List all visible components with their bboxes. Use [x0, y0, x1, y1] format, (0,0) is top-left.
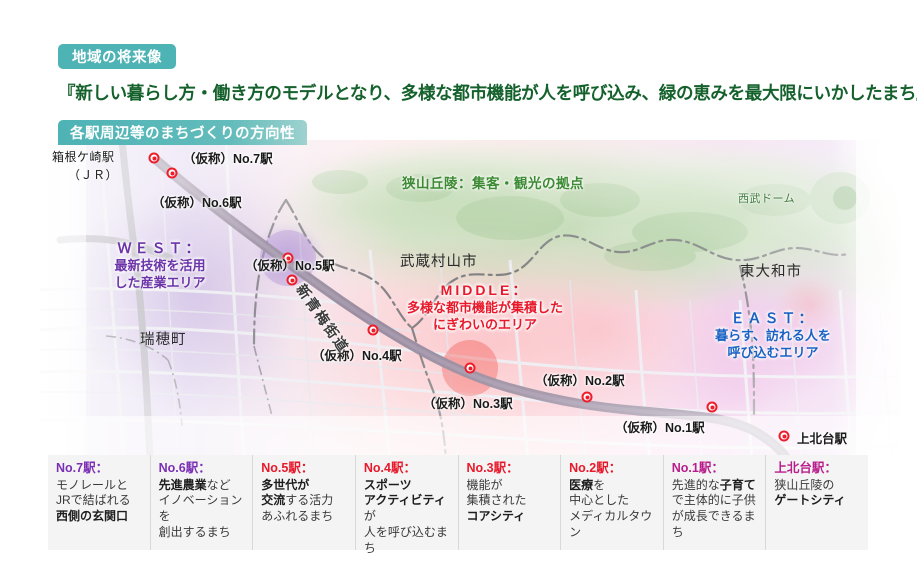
- caption-no5-l2b: 交流: [261, 493, 285, 507]
- caption-no1-l3: が成長できるまち: [672, 509, 756, 539]
- station-marker-no7[interactable]: [167, 168, 178, 179]
- caption-no4-head: No.4駅：: [364, 460, 454, 477]
- station-marker-no1[interactable]: [707, 402, 718, 413]
- caption-no7: No.7駅： モノレールと JRで結ばれる 西側の玄関口: [48, 455, 151, 550]
- caption-no5-l3: あふれるまち: [261, 509, 333, 523]
- caption-no2-head: No.2駅：: [569, 460, 659, 477]
- caption-no6-l3: 創出するまち: [159, 525, 231, 539]
- caption-no2-body: 医療を 中心とした メディカルタウン: [569, 478, 659, 541]
- caption-kamikitadai-l1: 狭山丘陵の: [774, 478, 834, 492]
- caption-no3-l3b: コアシティ: [467, 509, 526, 523]
- station-marker-kamikitadai[interactable]: [779, 431, 790, 442]
- station-marker-hakonegasaki[interactable]: [149, 153, 160, 164]
- direction-badge: 各駅周辺等のまちづくりの方向性: [58, 120, 307, 145]
- caption-no3-l2: 集積された: [467, 493, 527, 507]
- caption-kamikitadai-l2b: ゲートシティ: [774, 493, 845, 507]
- caption-no2-l2: 中心とした: [569, 493, 629, 507]
- caption-no6-l1b: 先進農業: [159, 478, 207, 492]
- caption-no1-body: 先進的な子育て で主体的に子供 が成長できるまち: [672, 478, 762, 541]
- caption-no1-l1b: 子育て: [720, 478, 756, 492]
- caption-kamikitadai: 上北台駅： 狭山丘陵の ゲートシティ: [766, 455, 868, 550]
- caption-no4-body: スポーツ アクティビティが 人を呼び込むまち: [364, 478, 454, 557]
- caption-no2-l3: メディカルタウン: [569, 509, 652, 539]
- caption-no6: No.6駅： 先進農業など イノベーションを 創出するまち: [151, 455, 254, 550]
- caption-no1-l2: で主体的に子供: [672, 493, 756, 507]
- station-marker-no5[interactable]: [287, 275, 298, 286]
- caption-no5-l2c: する活力: [285, 493, 333, 507]
- caption-no4-l3: 人を呼び込むまち: [364, 525, 448, 555]
- caption-no6-l2: イノベーションを: [159, 493, 243, 523]
- caption-no5-head: No.5駅：: [261, 460, 351, 477]
- caption-no7-l2: JRで結ばれる: [56, 493, 131, 507]
- caption-no6-l1c: など: [207, 478, 231, 492]
- region-map: 箱根ケ崎駅 （ＪＲ） （仮称）No.7駅 （仮称）No.6駅 （仮称）No.5駅…: [40, 140, 900, 460]
- caption-no1-head: No.1駅：: [672, 460, 762, 477]
- caption-no1-l1: 先進的な: [672, 478, 720, 492]
- caption-no3-body: 機能が 集積された コアシティ: [467, 478, 557, 525]
- caption-no5-l1b: 多世代が: [261, 478, 309, 492]
- map-canvas: [40, 140, 900, 460]
- slide-root: 地域の将来像 『新しい暮らし方・働き方のモデルとなり、多様な都市機能が人を呼び込…: [0, 0, 917, 574]
- caption-no6-body: 先進農業など イノベーションを 創出するまち: [159, 478, 249, 541]
- caption-no2-l1b: 医療: [569, 478, 593, 492]
- caption-no4-l1b: スポーツ: [364, 478, 412, 492]
- station-marker-no4[interactable]: [368, 325, 379, 336]
- caption-no7-head: No.7駅：: [56, 460, 146, 477]
- station-caption-strip: No.7駅： モノレールと JRで結ばれる 西側の玄関口 No.6駅： 先進農業…: [48, 455, 868, 550]
- caption-no4: No.4駅： スポーツ アクティビティが 人を呼び込むまち: [356, 455, 459, 550]
- caption-no6-head: No.6駅：: [159, 460, 249, 477]
- caption-no1: No.1駅： 先進的な子育て で主体的に子供 が成長できるまち: [664, 455, 767, 550]
- caption-no7-l3b: 西側の玄関口: [56, 509, 128, 523]
- caption-no2-l1c: を: [593, 478, 605, 492]
- caption-no4-l2b: アクティビティ: [364, 493, 446, 507]
- caption-no3-l1: 機能が: [467, 478, 503, 492]
- caption-no3: No.3駅： 機能が 集積された コアシティ: [459, 455, 562, 550]
- caption-kamikitadai-body: 狭山丘陵の ゲートシティ: [774, 478, 864, 510]
- caption-kamikitadai-head: 上北台駅：: [774, 460, 864, 477]
- page-title: 『新しい暮らし方・働き方のモデルとなり、多様な都市機能が人を呼び込み、緑の恵みを…: [58, 80, 878, 105]
- station-marker-no2[interactable]: [582, 392, 593, 403]
- station-marker-no3[interactable]: [465, 363, 476, 374]
- caption-no4-l2c: が: [364, 509, 376, 523]
- caption-no2: No.2駅： 医療を 中心とした メディカルタウン: [561, 455, 664, 550]
- caption-no7-body: モノレールと JRで結ばれる 西側の玄関口: [56, 478, 146, 525]
- caption-no5: No.5駅： 多世代が 交流する活力 あふれるまち: [253, 455, 356, 550]
- caption-no3-head: No.3駅：: [467, 460, 557, 477]
- caption-no5-body: 多世代が 交流する活力 あふれるまち: [261, 478, 351, 525]
- caption-no7-l1: モノレールと: [56, 478, 128, 492]
- vision-badge: 地域の将来像: [58, 44, 176, 69]
- station-marker-no6[interactable]: [283, 253, 294, 264]
